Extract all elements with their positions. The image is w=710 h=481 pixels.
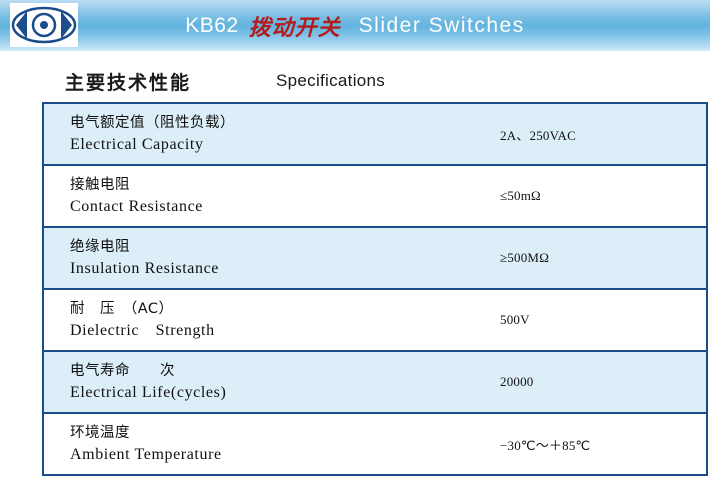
spec-value-cell: ≥500MΩ	[496, 250, 706, 266]
table-row: 电气寿命 次 Electrical Life(cycles) 20000	[44, 352, 706, 414]
spec-name-cell: 电气额定值（阻性负载） Electrical Capacity	[44, 114, 496, 155]
table-row: 电气额定值（阻性负载） Electrical Capacity 2A、250VA…	[44, 104, 706, 166]
spec-value-cell: ≤50mΩ	[496, 188, 706, 204]
spec-name-cell: 接触电阻 Contact Resistance	[44, 176, 496, 217]
spec-name-cell: 环境温度 Ambient Temperature	[44, 424, 496, 465]
section-heading-english: Specifications	[276, 71, 385, 91]
table-row: 环境温度 Ambient Temperature −30℃～＋85℃	[44, 414, 706, 476]
spec-name-english: Dielectric Strength	[70, 320, 496, 341]
spec-name-english: Ambient Temperature	[70, 444, 496, 465]
spec-value-cell: 20000	[496, 374, 706, 390]
title-model: KB62	[185, 14, 238, 38]
title-english: Slider Switches	[359, 14, 525, 38]
spec-name-chinese: 环境温度	[70, 424, 496, 443]
spec-name-chinese: 电气额定值（阻性负载）	[70, 114, 496, 133]
table-row: 耐 压 （AC） Dielectric Strength 500V	[44, 290, 706, 352]
page-header: KB62 拨动开关 Slider Switches	[0, 0, 710, 51]
spec-value-cell: 500V	[496, 312, 706, 328]
spec-name-english: Insulation Resistance	[70, 258, 496, 279]
spec-name-english: Contact Resistance	[70, 196, 496, 217]
spec-value-cell: 2A、250VAC	[496, 125, 706, 144]
spec-name-chinese: 绝缘电阻	[70, 238, 496, 257]
spec-name-english: Electrical Life(cycles)	[70, 382, 496, 403]
spec-value-cell: −30℃～＋85℃	[496, 435, 706, 454]
spec-name-english: Electrical Capacity	[70, 134, 496, 155]
title-chinese: 拨动开关	[249, 10, 341, 42]
spec-name-cell: 电气寿命 次 Electrical Life(cycles)	[44, 362, 496, 403]
page-title: KB62 拨动开关 Slider Switches	[0, 0, 710, 51]
spec-name-chinese: 耐 压 （AC）	[70, 300, 496, 319]
spec-name-chinese: 电气寿命 次	[70, 362, 496, 381]
section-heading-chinese: 主要技术性能	[65, 68, 191, 95]
table-row: 绝缘电阻 Insulation Resistance ≥500MΩ	[44, 228, 706, 290]
spec-name-cell: 绝缘电阻 Insulation Resistance	[44, 238, 496, 279]
spec-name-chinese: 接触电阻	[70, 176, 496, 195]
table-row: 接触电阻 Contact Resistance ≤50mΩ	[44, 166, 706, 228]
specifications-table: 电气额定值（阻性负载） Electrical Capacity 2A、250VA…	[42, 102, 708, 476]
spec-name-cell: 耐 压 （AC） Dielectric Strength	[44, 300, 496, 341]
